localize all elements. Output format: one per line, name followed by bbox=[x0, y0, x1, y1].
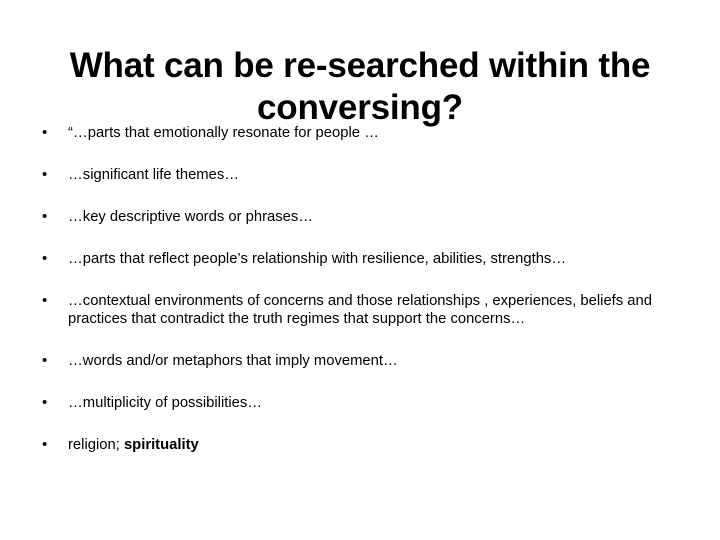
list-item-text: religion; spirituality bbox=[68, 436, 698, 454]
bullet-point-icon: • bbox=[42, 292, 54, 310]
bullet-point-icon: • bbox=[42, 166, 54, 184]
list-item: • …contextual environments of concerns a… bbox=[30, 292, 698, 328]
list-item: • religion; spirituality bbox=[30, 436, 698, 454]
list-item-text: …multiplicity of possibilities… bbox=[68, 394, 698, 412]
list-item: • …multiplicity of possibilities… bbox=[30, 394, 698, 412]
bullet-point-icon: • bbox=[42, 394, 54, 412]
slide-canvas: What can be re-searched within the conve… bbox=[0, 0, 720, 540]
list-item-text: …contextual environments of concerns and… bbox=[68, 292, 698, 328]
list-item: • “…parts that emotionally resonate for … bbox=[30, 124, 698, 142]
bullet-point-icon: • bbox=[42, 250, 54, 268]
bullet-point-icon: • bbox=[42, 124, 54, 142]
list-item-text: “…parts that emotionally resonate for pe… bbox=[68, 124, 698, 142]
page-title: What can be re-searched within the conve… bbox=[36, 45, 684, 129]
bullet-point-icon: • bbox=[42, 436, 54, 454]
bullet-point-icon: • bbox=[42, 208, 54, 226]
list-item-text-plain: religion; bbox=[68, 437, 124, 453]
list-item-text-emphasis: spirituality bbox=[124, 437, 199, 453]
list-item-text: …words and/or metaphors that imply movem… bbox=[68, 352, 698, 370]
bullet-list: • “…parts that emotionally resonate for … bbox=[30, 124, 698, 454]
list-item: • …significant life themes… bbox=[30, 166, 698, 184]
list-item-text: …key descriptive words or phrases… bbox=[68, 208, 698, 226]
list-item-text: …parts that reflect people’s relationshi… bbox=[68, 250, 698, 268]
list-item-text: …significant life themes… bbox=[68, 166, 698, 184]
bullet-point-icon: • bbox=[42, 352, 54, 370]
list-item: • …key descriptive words or phrases… bbox=[30, 208, 698, 226]
list-item: • …words and/or metaphors that imply mov… bbox=[30, 352, 698, 370]
list-item: • …parts that reflect people’s relations… bbox=[30, 250, 698, 268]
